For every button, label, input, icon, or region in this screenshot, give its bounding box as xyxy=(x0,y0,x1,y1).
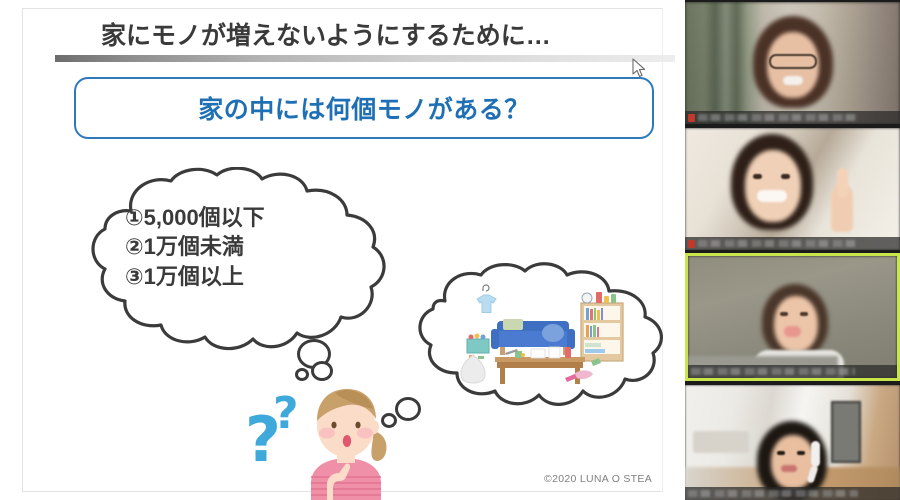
thinking-woman-illustration xyxy=(291,381,403,500)
option-item-3: ③1万個以上 xyxy=(125,262,375,291)
participant-tile-4[interactable] xyxy=(685,385,900,500)
thought-trail-bubble xyxy=(311,361,333,381)
screen-share-window: 家にモノが増えないようにするために… 家の中には何個モノがある？ ①5,000個… xyxy=(0,0,900,500)
participant-tile-2[interactable] xyxy=(685,128,900,250)
options-thought-bubble: ①5,000個以下 ②1万個未満 ③1万個以上 xyxy=(79,167,409,367)
participant-name-label xyxy=(698,240,858,247)
copyright-notice: ©2020 LUNA O STEA xyxy=(544,473,652,485)
title-divider xyxy=(55,55,675,62)
mouse-cursor-icon xyxy=(632,58,646,78)
cluttered-room-illustration xyxy=(453,283,638,395)
participant-name-bar-1 xyxy=(685,111,900,124)
participant-name-label xyxy=(698,114,858,121)
thought-trail-bubble xyxy=(295,368,309,381)
options-list: ①5,000個以下 ②1万個未満 ③1万個以上 xyxy=(125,203,375,291)
participant-tile-3[interactable] xyxy=(685,253,900,381)
option-item-1: ①5,000個以下 xyxy=(125,203,375,232)
option-item-2: ②1万個未満 xyxy=(125,232,375,261)
slide-frame: 家にモノが増えないようにするために… 家の中には何個モノがある？ ①5,000個… xyxy=(22,8,663,492)
participant-name-label xyxy=(688,490,858,497)
participant-name-bar-4 xyxy=(685,487,900,500)
microphone-muted-icon xyxy=(688,240,695,248)
participant-name-bar-3 xyxy=(688,365,897,378)
participant-name-label xyxy=(691,368,855,375)
participant-name-bar-2 xyxy=(685,237,900,250)
participant-tile-1[interactable] xyxy=(685,2,900,124)
microphone-muted-icon xyxy=(688,114,695,122)
question-box: 家の中には何個モノがある？ xyxy=(74,77,654,139)
participant-video-panel[interactable] xyxy=(685,0,900,500)
room-thought-bubble xyxy=(401,261,683,425)
shared-slide-region[interactable]: 家にモノが増えないようにするために… 家の中には何個モノがある？ ①5,000個… xyxy=(0,0,685,500)
page-title: 家にモノが増えないようにするために… xyxy=(101,19,621,53)
question-text: 家の中には何個モノがある？ xyxy=(198,90,530,126)
